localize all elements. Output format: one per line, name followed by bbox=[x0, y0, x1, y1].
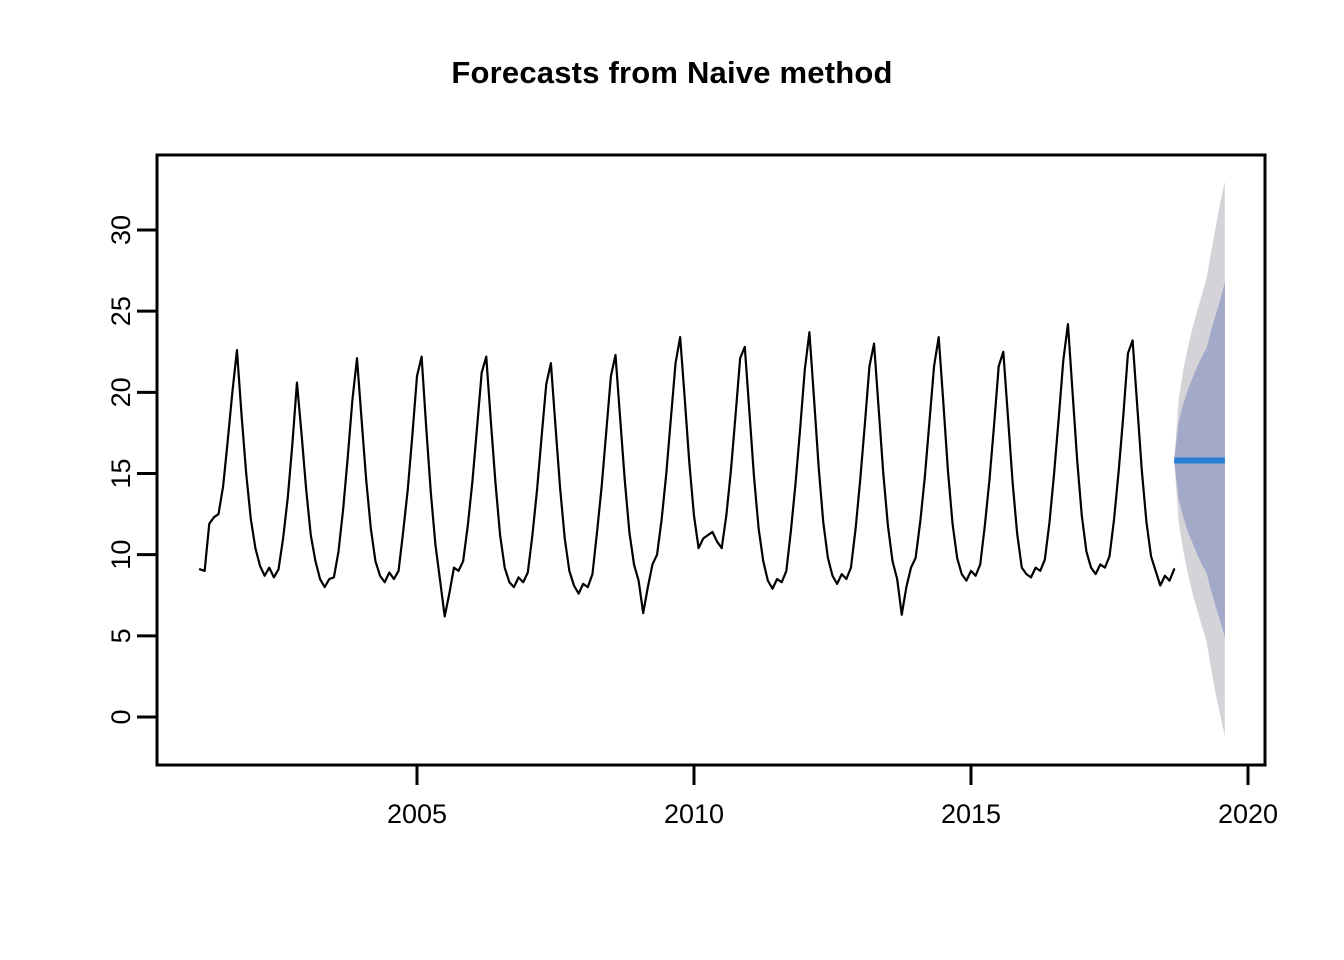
plot-canvas: 2005201020152020 051015202530 bbox=[0, 0, 1344, 960]
y-tick-label: 20 bbox=[106, 377, 136, 407]
y-tick-label: 5 bbox=[106, 628, 136, 643]
x-tick-label: 2015 bbox=[941, 799, 1001, 829]
y-tick-label: 15 bbox=[106, 458, 136, 488]
y-tick-label: 30 bbox=[106, 215, 136, 245]
y-tick-label: 25 bbox=[106, 296, 136, 326]
x-tick-label: 2010 bbox=[664, 799, 724, 829]
x-axis-tick-labels: 2005201020152020 bbox=[387, 799, 1278, 829]
y-tick-label: 10 bbox=[106, 540, 136, 570]
x-tick-label: 2020 bbox=[1218, 799, 1278, 829]
history-series-line bbox=[200, 324, 1174, 616]
y-axis-tick-labels: 051015202530 bbox=[106, 215, 136, 725]
x-tick-label: 2005 bbox=[387, 799, 447, 829]
forecast-plot-figure: Forecasts from Naive method 200520102015… bbox=[0, 0, 1344, 960]
axis-box-and-ticks bbox=[137, 155, 1265, 785]
y-tick-label: 0 bbox=[106, 709, 136, 724]
